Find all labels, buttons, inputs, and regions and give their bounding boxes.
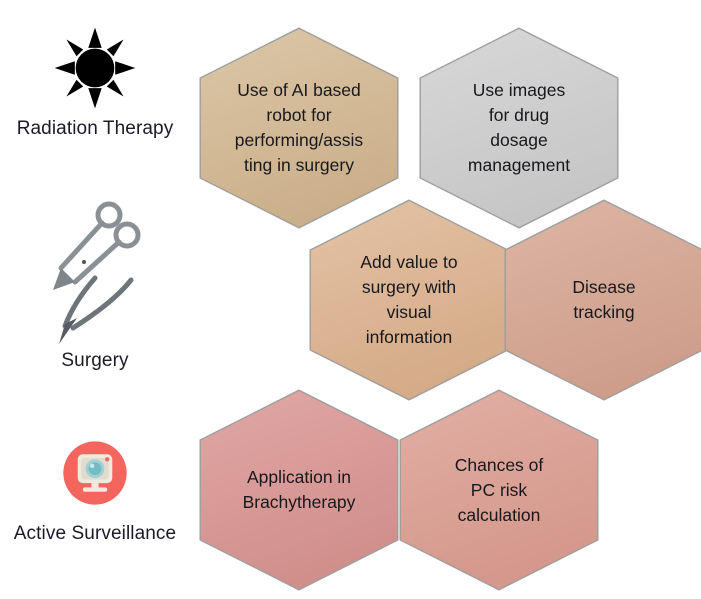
- hexagon-disease-tracking[interactable]: Disease tracking: [504, 199, 701, 401]
- hexagon-pc-risk-calculation[interactable]: Chances of PC risk calculation: [399, 389, 599, 591]
- hexagon-label: Disease tracking: [529, 275, 679, 325]
- hexagon-visual-information[interactable]: Add value to surgery with visual informa…: [309, 199, 509, 401]
- hexagon-label: Chances of PC risk calculation: [424, 453, 574, 528]
- hexagon-label: Application in Brachytherapy: [224, 465, 374, 515]
- hexagon-label: Add value to surgery with visual informa…: [334, 250, 484, 350]
- hexagon-label: Use of AI based robot for performing/ass…: [224, 78, 374, 178]
- honeycomb-diagram: Use of AI based robot for performing/ass…: [0, 0, 701, 599]
- hexagon-label: Use images for drug dosage management: [444, 78, 594, 178]
- hexagon-brachytherapy[interactable]: Application in Brachytherapy: [199, 389, 399, 591]
